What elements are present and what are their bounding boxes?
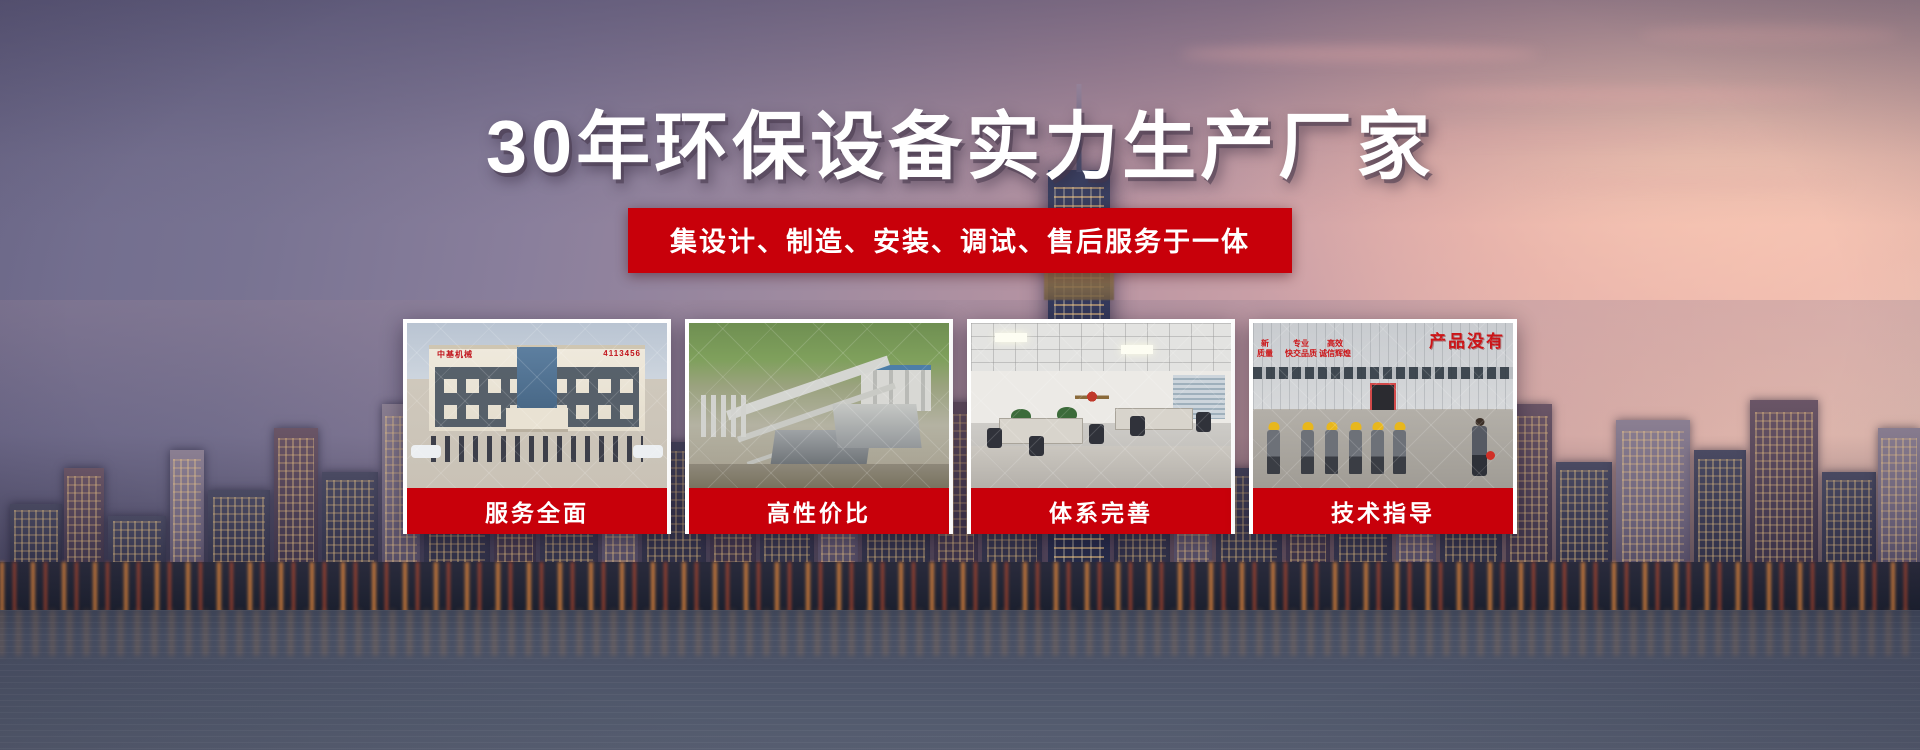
card-label: 技术指导 (1331, 494, 1435, 528)
building-sign-text: 中基机械 (437, 349, 473, 360)
card-thumbnail-headquarters: 中基机械 4113456 (407, 323, 667, 488)
building-phone-text: 4113456 (603, 349, 641, 358)
feature-card[interactable]: 体系完善 (967, 319, 1235, 534)
card-caption-bar: 技术指导 (1253, 488, 1513, 534)
card-thumbnail-plant-aerial (689, 323, 949, 488)
feature-card[interactable]: 产品没有 新质量 专业快交品质 高效诚信辉煌 (1249, 319, 1517, 534)
banner-content: 30年环保设备实力生产厂家 集设计、制造、安装、调试、售后服务于一体 中基机械 … (0, 0, 1920, 750)
subtitle-text: 集设计、制造、安装、调试、售后服务于一体 (670, 227, 1250, 257)
card-caption-bar: 高性价比 (689, 488, 949, 534)
subtitle-banner: 集设计、制造、安装、调试、售后服务于一体 (628, 208, 1292, 273)
card-caption-bar: 服务全面 (407, 488, 667, 534)
card-thumbnail-factory-workers: 产品没有 新质量 专业快交品质 高效诚信辉煌 (1253, 323, 1513, 488)
card-thumbnail-office-interior (971, 323, 1231, 488)
factory-slogan: 新质量 (1257, 339, 1273, 358)
feature-card-list: 中基机械 4113456 服务全面 (403, 319, 1517, 534)
factory-wall-sign: 产品没有 (1429, 327, 1505, 352)
factory-slogan: 专业快交品质 (1285, 339, 1317, 358)
page-headline: 30年环保设备实力生产厂家 (486, 110, 1434, 184)
card-label: 服务全面 (485, 494, 589, 528)
feature-card[interactable]: 中基机械 4113456 服务全面 (403, 319, 671, 534)
factory-slogan: 高效诚信辉煌 (1319, 339, 1351, 358)
card-label: 高性价比 (767, 494, 871, 528)
hero-banner: 30年环保设备实力生产厂家 集设计、制造、安装、调试、售后服务于一体 中基机械 … (0, 0, 1920, 750)
feature-card[interactable]: 高性价比 (685, 319, 953, 534)
card-label: 体系完善 (1049, 494, 1153, 528)
card-caption-bar: 体系完善 (971, 488, 1231, 534)
